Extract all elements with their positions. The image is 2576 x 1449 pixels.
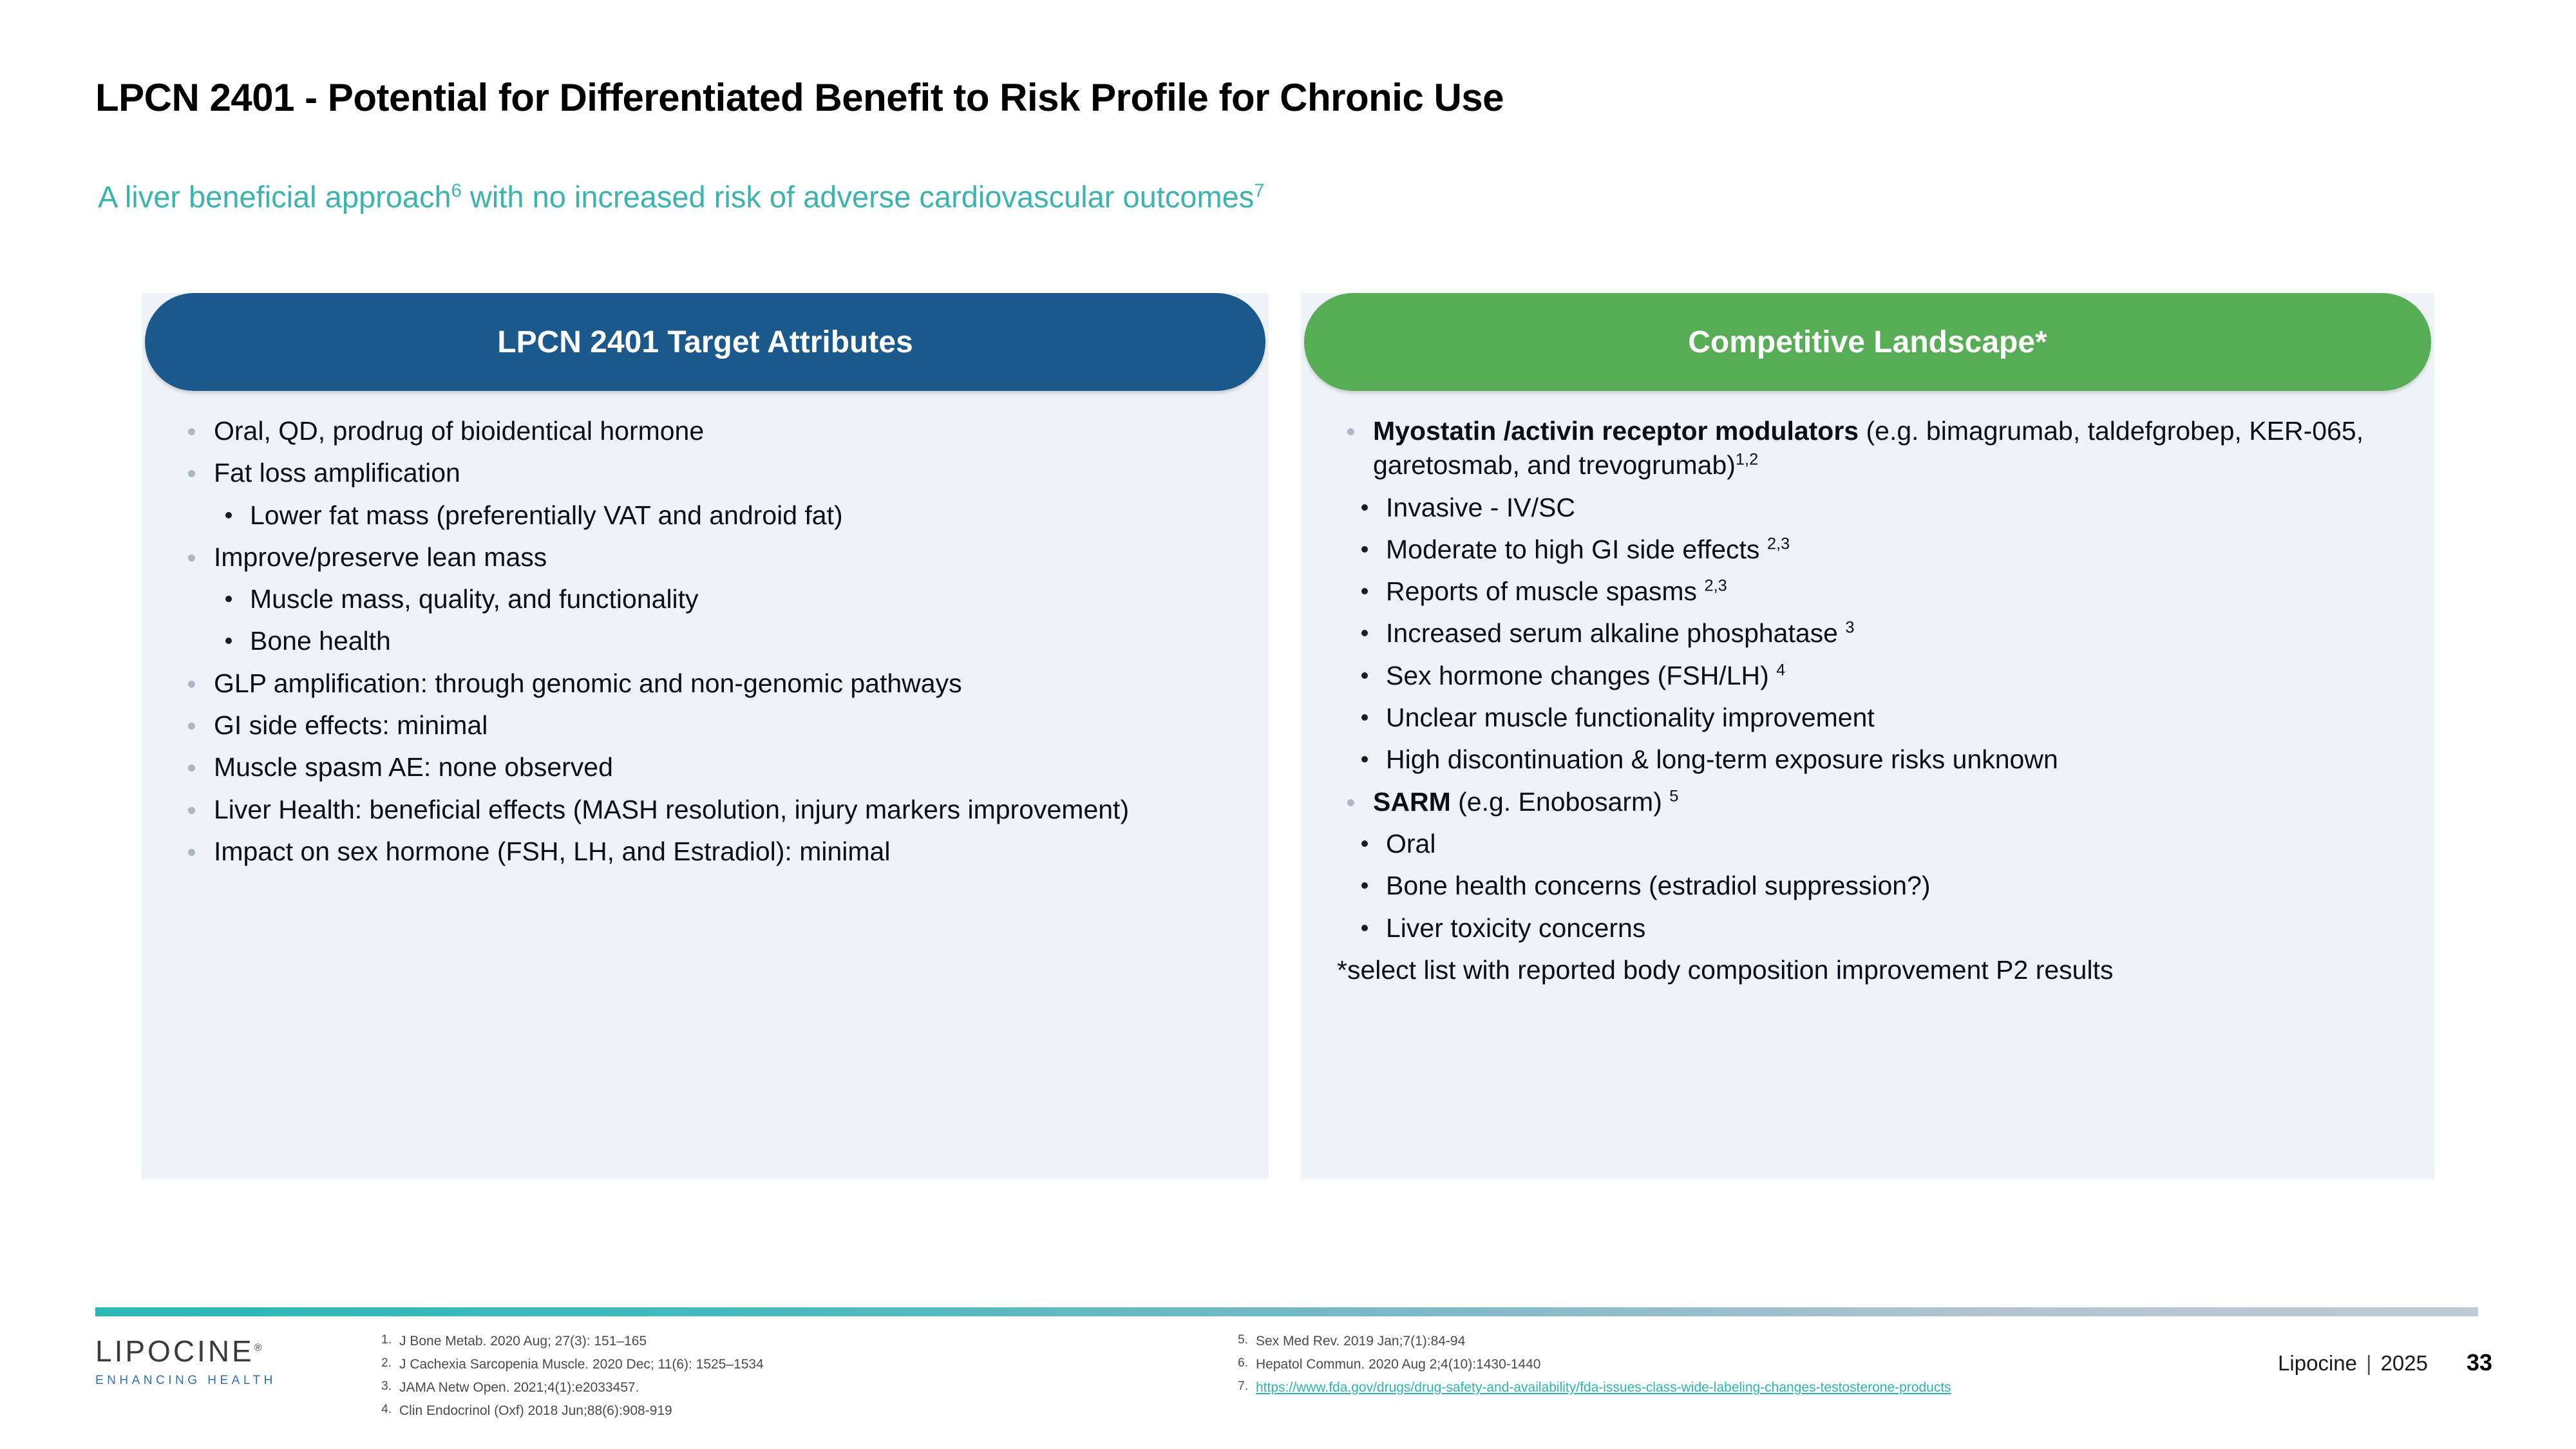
superscript-citation: 5: [1669, 787, 1678, 805]
list-item-label: (e.g. Enobosarm): [1451, 787, 1670, 817]
list-item: Sex hormone changes (FSH/LH) 4: [1350, 659, 2412, 693]
right-panel-sublist-1: Invasive - IV/SC Moderate to high GI sid…: [1350, 491, 2412, 777]
reference-number: 5.: [1229, 1331, 1248, 1350]
left-panel-header: LPCN 2401 Target Attributes: [145, 293, 1265, 391]
bullet-dot-icon: [188, 849, 195, 856]
list-item-label: Liver toxicity concerns: [1386, 913, 1645, 943]
reference-number: 1.: [372, 1331, 392, 1350]
list-item-label: Lower fat mass (preferentially VAT and a…: [250, 500, 843, 530]
list-item: Impact on sex hormone (FSH, LH, and Estr…: [164, 835, 1247, 869]
page-title: LPCN 2401 - Potential for Differentiated…: [95, 75, 1504, 120]
list-item: Invasive - IV/SC: [1350, 491, 2412, 525]
list-item: Reports of muscle spasms 2,3: [1350, 574, 2412, 609]
list-item-label: GI side effects: minimal: [214, 710, 488, 740]
footer-brand-name: Lipocine: [2278, 1351, 2357, 1375]
reference-item: 3. JAMA Netw Open. 2021;4(1):e2033457.: [372, 1377, 1197, 1399]
list-item-label: Invasive - IV/SC: [1386, 493, 1575, 522]
bullet-dot-icon: [188, 681, 195, 688]
right-panel: Competitive Landscape* Myostatin /activi…: [1301, 293, 2434, 1179]
superscript-citation: 1,2: [1736, 451, 1758, 469]
reference-item: 6. Hepatol Commun. 2020 Aug 2;4(10):1430…: [1229, 1354, 2124, 1376]
bullet-dot-icon: [225, 638, 232, 644]
reference-text: Clin Endocrinol (Oxf) 2018 Jun;88(6):908…: [399, 1403, 672, 1418]
list-item-label: Bone health concerns (estradiol suppress…: [1386, 871, 1931, 900]
logo-tagline: ENHANCING HEALTH: [95, 1374, 327, 1388]
list-item-label: Fat loss amplification: [214, 458, 460, 488]
left-panel-sublist-2: Muscle mass, quality, and functionality …: [214, 582, 1247, 659]
bullet-dot-icon: [188, 723, 195, 730]
list-item-label: Bone health: [250, 626, 391, 656]
superscript-citation: 3: [1845, 619, 1854, 637]
reference-number: 3.: [372, 1377, 392, 1397]
list-item: Fat loss amplification: [164, 456, 1247, 490]
bullet-dot-icon: [1361, 714, 1368, 721]
list-item: Unclear muscle functionality improvement: [1350, 701, 2412, 735]
bullet-dot-icon: [1361, 756, 1368, 762]
list-item: GI side effects: minimal: [164, 708, 1247, 743]
list-item-label-bold: Myostatin /activin receptor modulators: [1373, 416, 1859, 446]
list-item: Increased serum alkaline phosphatase 3: [1350, 616, 2412, 650]
list-item-label: Improve/preserve lean mass: [214, 542, 547, 572]
list-item-label: High discontinuation & long-term exposur…: [1386, 744, 2058, 774]
list-item-label: Liver Health: beneficial effects (MASH r…: [214, 795, 1129, 824]
left-panel-body: Oral, QD, prodrug of bioidentical hormon…: [142, 391, 1269, 1179]
bullet-dot-icon: [1361, 840, 1368, 847]
reference-number: 2.: [372, 1354, 392, 1374]
list-item: GLP amplification: through genomic and n…: [164, 667, 1247, 701]
list-item: Bone health: [214, 624, 1247, 658]
right-panel-header: Competitive Landscape*: [1304, 293, 2431, 391]
superscript-citation: 2,3: [1704, 577, 1727, 595]
logo-wordmark: LIPOCINE®: [95, 1336, 327, 1366]
list-item: Improve/preserve lean mass: [164, 540, 1247, 574]
list-item: Myostatin /activin receptor modulators (…: [1323, 414, 2412, 483]
list-item-label: Reports of muscle spasms: [1386, 576, 1704, 606]
references-left-column: 1. J Bone Metab. 2020 Aug; 27(3): 151–16…: [372, 1331, 1197, 1423]
reference-item: 1. J Bone Metab. 2020 Aug; 27(3): 151–16…: [372, 1331, 1197, 1352]
list-item-label: Unclear muscle functionality improvement: [1386, 703, 1875, 732]
list-item: SARM (e.g. Enobosarm) 5: [1323, 785, 2412, 819]
bullet-dot-icon: [1361, 882, 1368, 889]
reference-number: 7.: [1229, 1377, 1248, 1397]
lipocine-logo: LIPOCINE® ENHANCING HEALTH: [95, 1336, 327, 1388]
list-item-label-bold: SARM: [1373, 787, 1451, 817]
page-number: 33: [2467, 1349, 2492, 1376]
right-panel-header-label: Competitive Landscape*: [1688, 325, 2047, 360]
references-right-column: 5. Sex Med Rev. 2019 Jan;7(1):84-94 6. H…: [1229, 1331, 2124, 1400]
bullet-dot-icon: [1347, 799, 1354, 806]
list-item: Bone health concerns (estradiol suppress…: [1350, 869, 2412, 903]
list-item: Muscle spasm AE: none observed: [164, 750, 1247, 784]
bullet-dot-icon: [225, 596, 232, 602]
list-item-label: Muscle spasm AE: none observed: [214, 752, 613, 782]
subtitle-text-part1: A liver beneficial approach: [98, 180, 451, 214]
list-item: Oral: [1350, 827, 2412, 861]
list-item: Muscle mass, quality, and functionality: [214, 582, 1247, 616]
reference-item: 5. Sex Med Rev. 2019 Jan;7(1):84-94: [1229, 1331, 2124, 1352]
bullet-dot-icon: [1347, 428, 1354, 435]
list-item-label: Increased serum alkaline phosphatase: [1386, 618, 1845, 648]
footer-brand: Lipocine|2025: [2278, 1351, 2428, 1376]
list-item-label: Oral, QD, prodrug of bioidentical hormon…: [214, 416, 704, 446]
footer-divider: [95, 1307, 2478, 1316]
bullet-dot-icon: [188, 470, 195, 477]
subtitle-superscript-7: 7: [1254, 180, 1264, 201]
reference-text: Hepatol Commun. 2020 Aug 2;4(10):1430-14…: [1256, 1357, 1540, 1372]
reference-text: Sex Med Rev. 2019 Jan;7(1):84-94: [1256, 1334, 1465, 1349]
list-item: Oral, QD, prodrug of bioidentical hormon…: [164, 414, 1247, 448]
bullet-dot-icon: [1361, 588, 1368, 594]
reference-text: J Cachexia Sarcopenia Muscle. 2020 Dec; …: [399, 1357, 764, 1372]
bullet-dot-icon: [188, 764, 195, 772]
right-panel-footnote: *select list with reported body composit…: [1323, 953, 2412, 987]
left-panel-bullet-list: Oral, QD, prodrug of bioidentical hormon…: [164, 414, 1247, 869]
footer-separator: |: [2357, 1351, 2381, 1375]
list-item-label: GLP amplification: through genomic and n…: [214, 668, 962, 698]
reference-link[interactable]: https://www.fda.gov/drugs/drug-safety-an…: [1256, 1380, 1951, 1395]
bullet-dot-icon: [1361, 546, 1368, 553]
bullet-dot-icon: [1361, 672, 1368, 679]
superscript-citation: 2,3: [1767, 535, 1790, 553]
right-panel-body: Myostatin /activin receptor modulators (…: [1301, 391, 2434, 1179]
list-item: Moderate to high GI side effects 2,3: [1350, 533, 2412, 567]
registered-trademark-icon: ®: [254, 1343, 262, 1354]
bullet-dot-icon: [188, 428, 195, 435]
bullet-dot-icon: [1361, 630, 1368, 636]
left-panel-header-label: LPCN 2401 Target Attributes: [497, 325, 913, 360]
reference-text: J Bone Metab. 2020 Aug; 27(3): 151–165: [399, 1334, 647, 1349]
list-item: Liver Health: beneficial effects (MASH r…: [164, 793, 1247, 827]
subtitle-superscript-6: 6: [451, 180, 462, 201]
reference-item: 2. J Cachexia Sarcopenia Muscle. 2020 De…: [372, 1354, 1197, 1376]
superscript-citation: 4: [1776, 661, 1785, 679]
list-item: High discontinuation & long-term exposur…: [1350, 743, 2412, 777]
bullet-dot-icon: [188, 807, 195, 814]
reference-number: 6.: [1229, 1354, 1248, 1374]
list-item-label: Impact on sex hormone (FSH, LH, and Estr…: [214, 837, 890, 866]
page-subtitle: A liver beneficial approach6 with no inc…: [98, 179, 1264, 214]
list-item: Lower fat mass (preferentially VAT and a…: [214, 498, 1247, 533]
reference-item: 4. Clin Endocrinol (Oxf) 2018 Jun;88(6):…: [372, 1400, 1197, 1422]
list-item-label: Muscle mass, quality, and functionality: [250, 584, 699, 614]
list-item: Liver toxicity concerns: [1350, 911, 2412, 945]
right-panel-bullet-list: Myostatin /activin receptor modulators (…: [1323, 414, 2412, 945]
logo-wordmark-text: LIPOCINE: [95, 1334, 254, 1368]
bullet-dot-icon: [1361, 925, 1368, 931]
bullet-dot-icon: [1361, 504, 1368, 511]
bullet-dot-icon: [225, 512, 232, 518]
left-panel-sublist-1: Lower fat mass (preferentially VAT and a…: [214, 498, 1247, 533]
subtitle-text-part2: with no increased risk of adverse cardio…: [462, 180, 1254, 214]
right-panel-sublist-2: Oral Bone health concerns (estradiol sup…: [1350, 827, 2412, 945]
list-item-label: Moderate to high GI side effects: [1386, 535, 1767, 564]
reference-text: JAMA Netw Open. 2021;4(1):e2033457.: [399, 1380, 639, 1395]
footer-year: 2025: [2381, 1351, 2428, 1375]
reference-number: 4.: [372, 1400, 392, 1420]
bullet-dot-icon: [188, 554, 195, 562]
list-item-label: Oral: [1386, 829, 1435, 858]
reference-item: 7. https://www.fda.gov/drugs/drug-safety…: [1229, 1377, 2124, 1399]
list-item-label: Sex hormone changes (FSH/LH): [1386, 661, 1776, 690]
left-panel: LPCN 2401 Target Attributes Oral, QD, pr…: [142, 293, 1269, 1179]
